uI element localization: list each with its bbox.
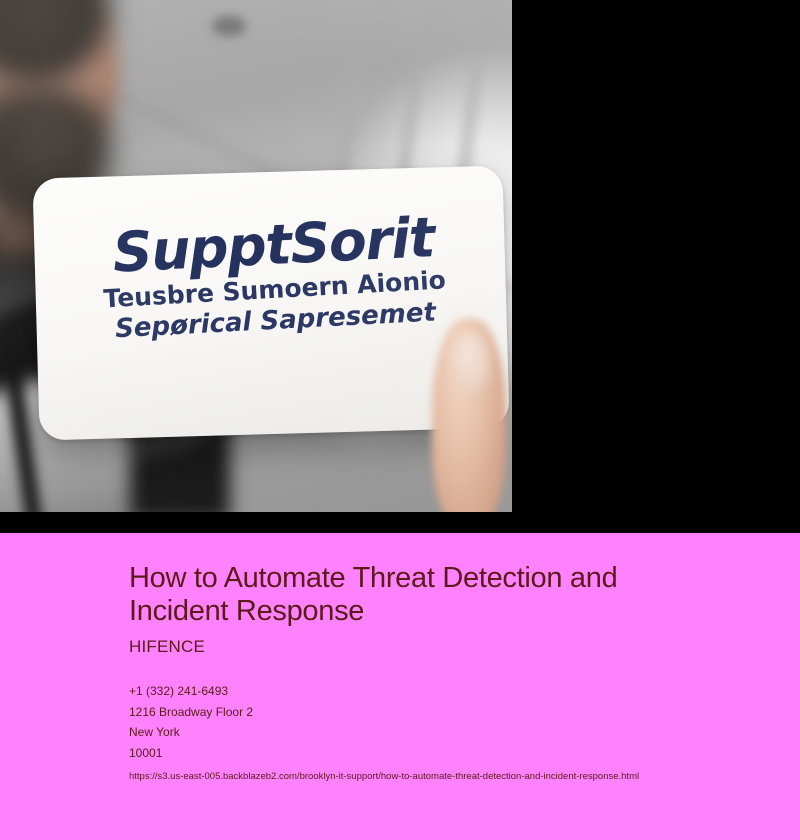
source-url-link[interactable]: https://s3.us-east-005.backblazeb2.com/b… [129, 771, 760, 783]
contact-city: New York [129, 722, 760, 743]
person-hair [0, 0, 110, 82]
contact-phone[interactable]: +1 (332) 241-6493 [129, 681, 760, 702]
info-panel-content: How to Automate Threat Detection and Inc… [129, 562, 760, 783]
person-head [0, 0, 119, 175]
info-panel: How to Automate Threat Detection and Inc… [0, 533, 800, 840]
page-root: SupptSorit Teusbre Sumoern Aionio Sepøri… [0, 0, 800, 840]
hero-media-band: SupptSorit Teusbre Sumoern Aionio Sepøri… [0, 0, 800, 533]
contact-postal-code: 10001 [129, 743, 760, 764]
brand-name: HIFENCE [129, 637, 760, 657]
contact-street: 1216 Broadway Floor 2 [129, 702, 760, 723]
person-thumbnail [450, 332, 490, 394]
hero-photo: SupptSorit Teusbre Sumoern Aionio Sepøri… [0, 0, 512, 512]
page-title: How to Automate Threat Detection and Inc… [129, 562, 709, 628]
contact-block: +1 (332) 241-6493 1216 Broadway Floor 2 … [129, 681, 760, 764]
